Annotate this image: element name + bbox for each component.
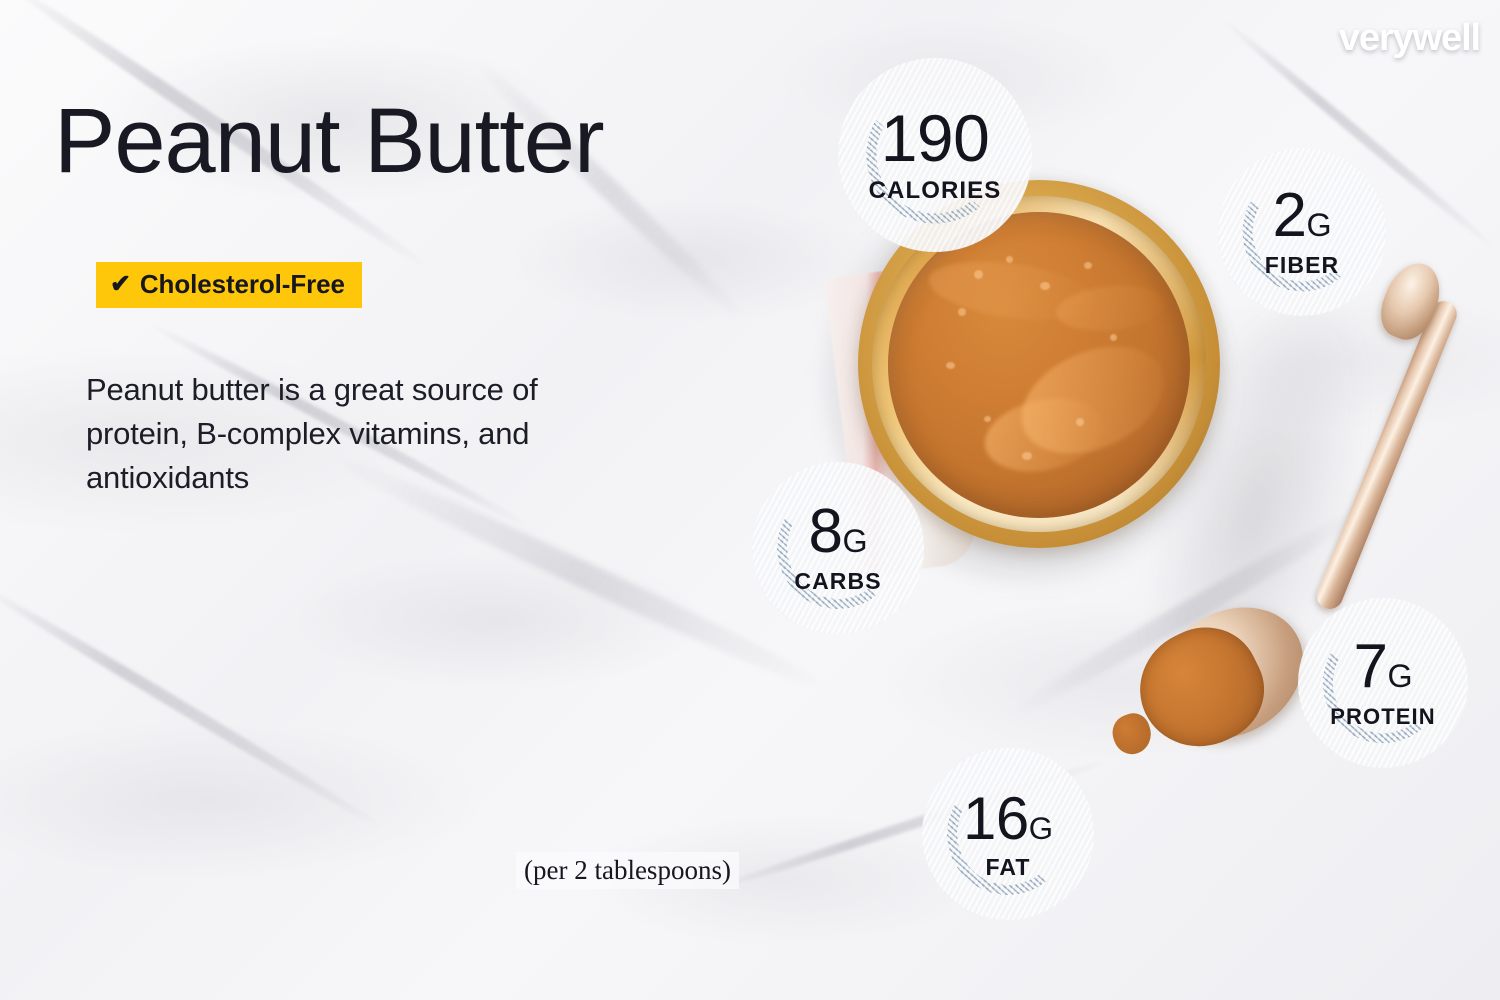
cholesterol-free-badge: ✔ Cholesterol-Free [96, 262, 362, 308]
peanut-butter-surface [888, 212, 1190, 518]
description-text: Peanut butter is a great source of prote… [86, 368, 646, 500]
nutrition-badge-fiber: 2G FIBER [1218, 148, 1386, 316]
page-title: Peanut Butter [54, 95, 604, 187]
badge-label-fiber: FIBER [1265, 254, 1340, 277]
badge-unit-carbs: G [842, 523, 867, 559]
serving-size-note: (per 2 tablespoons) [516, 852, 739, 889]
badge-label-protein: PROTEIN [1330, 706, 1436, 728]
badge-value-carbs: 8G [808, 503, 867, 562]
infographic-canvas: Peanut Butter ✔ Cholesterol-Free Peanut … [0, 0, 1500, 1000]
nutrition-badge-carbs: 8G CARBS [752, 462, 924, 634]
badge-label-fat: FAT [985, 856, 1030, 879]
badge-label-calories: CALORIES [869, 179, 1002, 203]
nutrition-badge-calories: 190 CALORIES [838, 58, 1032, 252]
badge-unit-protein: G [1387, 658, 1412, 694]
cholesterol-free-label: Cholesterol-Free [140, 271, 345, 297]
verywell-logo: verywell [1339, 19, 1480, 57]
nutrition-badge-fat: 16G FAT [922, 748, 1094, 920]
badge-unit-fiber: G [1306, 207, 1331, 243]
badge-value-protein: 7G [1353, 638, 1412, 697]
badge-value-fat: 16G [963, 790, 1053, 847]
check-icon: ✔ [110, 272, 131, 297]
badge-value-fiber: 2G [1272, 187, 1331, 246]
badge-value-calories: 190 [881, 107, 990, 170]
nutrition-badge-protein: 7G PROTEIN [1298, 598, 1468, 768]
badge-label-carbs: CARBS [794, 570, 881, 593]
badge-unit-fat: G [1029, 811, 1053, 846]
